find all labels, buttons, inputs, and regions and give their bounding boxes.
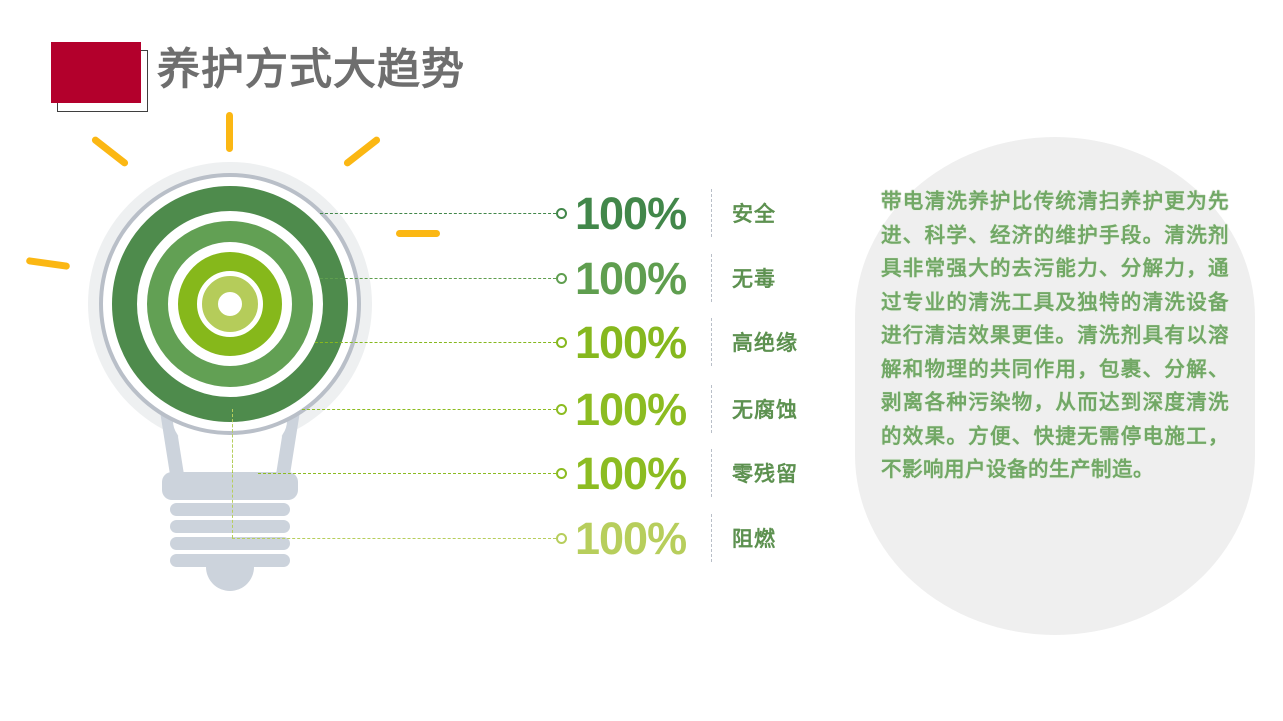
light-ray-top-icon: [226, 112, 233, 152]
stat-row: 100%零残留: [575, 442, 798, 504]
description-panel: 带电清洗养护比传统清扫养护更为先进、科学、经济的维护手段。清洗剂具非常强大的去污…: [855, 137, 1255, 635]
stat-row: 100%安全: [575, 182, 776, 244]
title-accent-square-decoration: [51, 42, 141, 103]
stat-value: 100%: [575, 320, 707, 365]
stat-value: 100%: [575, 387, 707, 432]
stat-row: 100%无腐蚀: [575, 378, 798, 440]
bulb-ring-4: [202, 276, 258, 332]
stat-value: 100%: [575, 191, 707, 236]
stat-divider: [711, 318, 712, 366]
stat-divider: [711, 189, 712, 237]
lightbulb-illustration: [0, 100, 560, 620]
bulb-base-band: [170, 554, 290, 567]
stat-label: 无毒: [732, 263, 776, 293]
light-ray-right-icon: [396, 230, 440, 237]
stat-label: 零残留: [732, 458, 798, 488]
bulb-base-band: [170, 503, 290, 516]
bulb-screw-base: [162, 472, 298, 582]
page-title: 养护方式大趋势: [157, 40, 465, 100]
stat-row: 100%高绝缘: [575, 311, 798, 373]
stat-label: 无腐蚀: [732, 394, 798, 424]
stat-value: 100%: [575, 516, 707, 561]
stat-divider: [711, 449, 712, 497]
stat-divider: [711, 254, 712, 302]
description-text: 带电清洗养护比传统清扫养护更为先进、科学、经济的维护手段。清洗剂具非常强大的去污…: [881, 185, 1229, 487]
stat-value: 100%: [575, 256, 707, 301]
stat-divider: [711, 514, 712, 562]
stat-row: 100%阻燃: [575, 507, 776, 569]
stats-list: 100%安全100%无毒100%高绝缘100%无腐蚀100%零残留100%阻燃: [575, 0, 835, 721]
bulb-base-band: [162, 472, 298, 500]
bulb-base-tip: [206, 567, 254, 591]
stat-label: 阻燃: [732, 523, 776, 553]
light-ray-upper-right-icon: [343, 135, 382, 168]
stat-value: 100%: [575, 451, 707, 496]
light-ray-left-icon: [26, 257, 71, 270]
stat-label: 安全: [732, 198, 776, 228]
stat-row: 100%无毒: [575, 247, 776, 309]
stat-divider: [711, 385, 712, 433]
stat-label: 高绝缘: [732, 327, 798, 357]
light-ray-upper-left-icon: [91, 135, 130, 168]
bulb-base-band: [170, 520, 290, 533]
bulb-base-band: [170, 537, 290, 550]
